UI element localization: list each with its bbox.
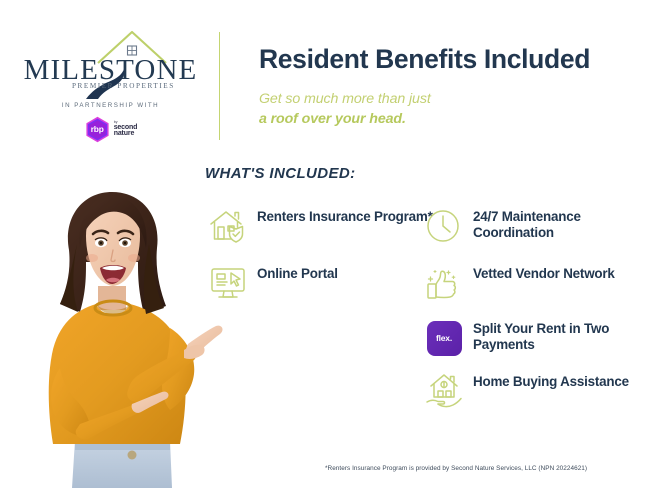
subtitle-line-2: a roof over your head. — [259, 109, 431, 129]
benefit-item-home-buying: Home Buying Assistance — [424, 371, 629, 411]
photo-woman-pointing — [20, 178, 225, 488]
partnership-label: IN PARTNERSHIP WITH — [18, 102, 203, 109]
rbp-badge-icon: rbp — [84, 116, 111, 143]
benefit-item-vetted-vendor: Vetted Vendor Network — [424, 263, 615, 303]
benefit-label: Home Buying Assistance — [473, 371, 629, 390]
clock-icon — [424, 206, 464, 246]
second-nature-line2: nature — [114, 131, 138, 138]
brand-logo-block: MILESTONE PREMIER PROPERTIES IN PARTNERS… — [18, 30, 203, 145]
poster-canvas: MILESTONE PREMIER PROPERTIES IN PARTNERS… — [0, 0, 650, 488]
benefit-label: Split Your Rent in Two Payments — [473, 318, 650, 353]
benefit-item-online-portal: Online Portal — [208, 263, 338, 303]
flex-badge-label: flex. — [427, 321, 462, 356]
flex-logo-icon: flex. — [424, 318, 464, 358]
benefit-item-maintenance: 24/7 Maintenance Coordination — [424, 206, 650, 246]
second-nature-lockup: by second nature — [114, 120, 138, 138]
benefit-label: Renters Insurance Program* — [257, 206, 433, 225]
page-subtitle: Get so much more than just a roof over y… — [259, 89, 431, 129]
rbp-label: rbp — [84, 116, 111, 143]
page-title: Resident Benefits Included — [259, 44, 590, 75]
benefit-label: 24/7 Maintenance Coordination — [473, 206, 650, 241]
house-in-hand-icon — [424, 371, 464, 411]
subtitle-line-1: Get so much more than just — [259, 89, 431, 109]
benefit-item-split-rent: flex. Split Your Rent in Two Payments — [424, 318, 650, 358]
partner-logos: rbp by second nature — [18, 114, 203, 144]
thumbs-up-sparkle-icon — [424, 263, 464, 303]
milestone-logo-mark: MILESTONE PREMIER PROPERTIES — [18, 30, 203, 92]
benefit-label: Vetted Vendor Network — [473, 263, 615, 282]
benefit-label: Online Portal — [257, 263, 338, 282]
logo-tagline: PREMIER PROPERTIES — [72, 82, 202, 90]
section-heading: WHAT'S INCLUDED: — [205, 165, 356, 182]
benefit-item-renters-insurance: Renters Insurance Program* — [208, 206, 433, 246]
vertical-divider — [219, 32, 220, 140]
disclaimer-text: *Renters Insurance Program is provided b… — [325, 465, 587, 472]
